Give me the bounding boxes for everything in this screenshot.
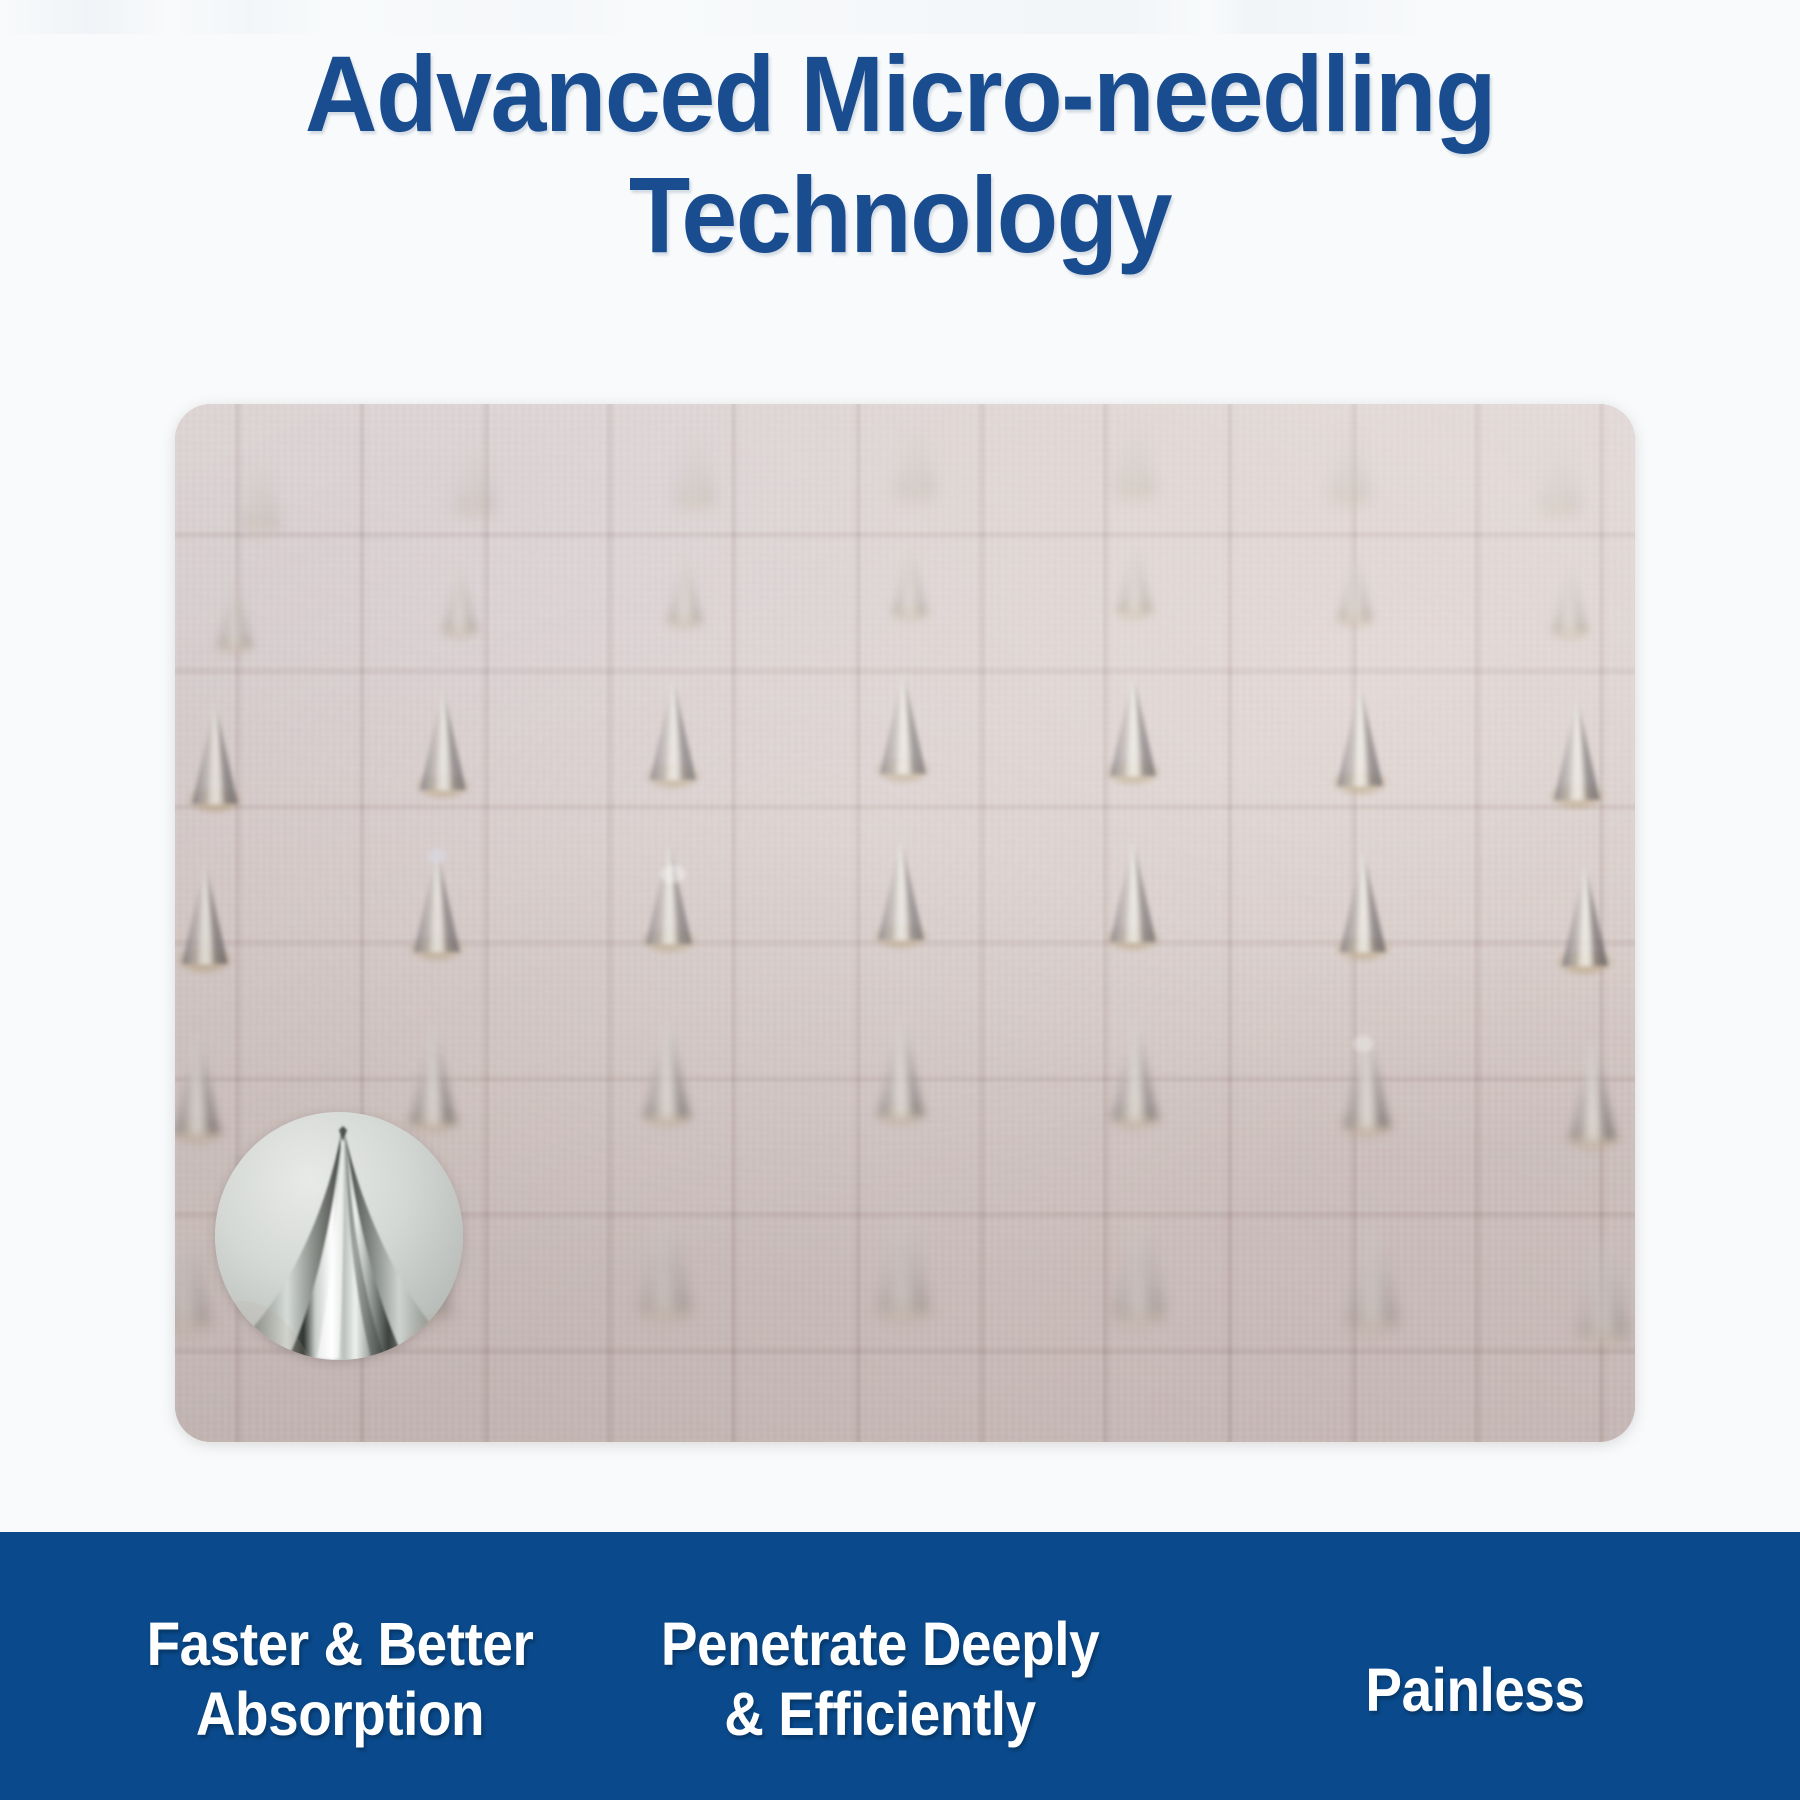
needle-closeup-inset [215, 1112, 463, 1360]
benefits-list: Faster & Better Absorption Penetrate Dee… [0, 1532, 1800, 1800]
benefit-penetration: Penetrate Deeply & Efficiently [628, 1610, 1132, 1749]
benefit-painless: Painless [1255, 1656, 1696, 1726]
benefits-banner: Faster & Better Absorption Penetrate Dee… [0, 1532, 1800, 1800]
top-edge-artifact [0, 0, 1800, 34]
promo-graphic: Advanced Micro-needling Technology [0, 0, 1800, 1800]
benefit-absorption: Faster & Better Absorption [97, 1610, 583, 1749]
page-title: Advanced Micro-needling Technology [63, 34, 1737, 276]
